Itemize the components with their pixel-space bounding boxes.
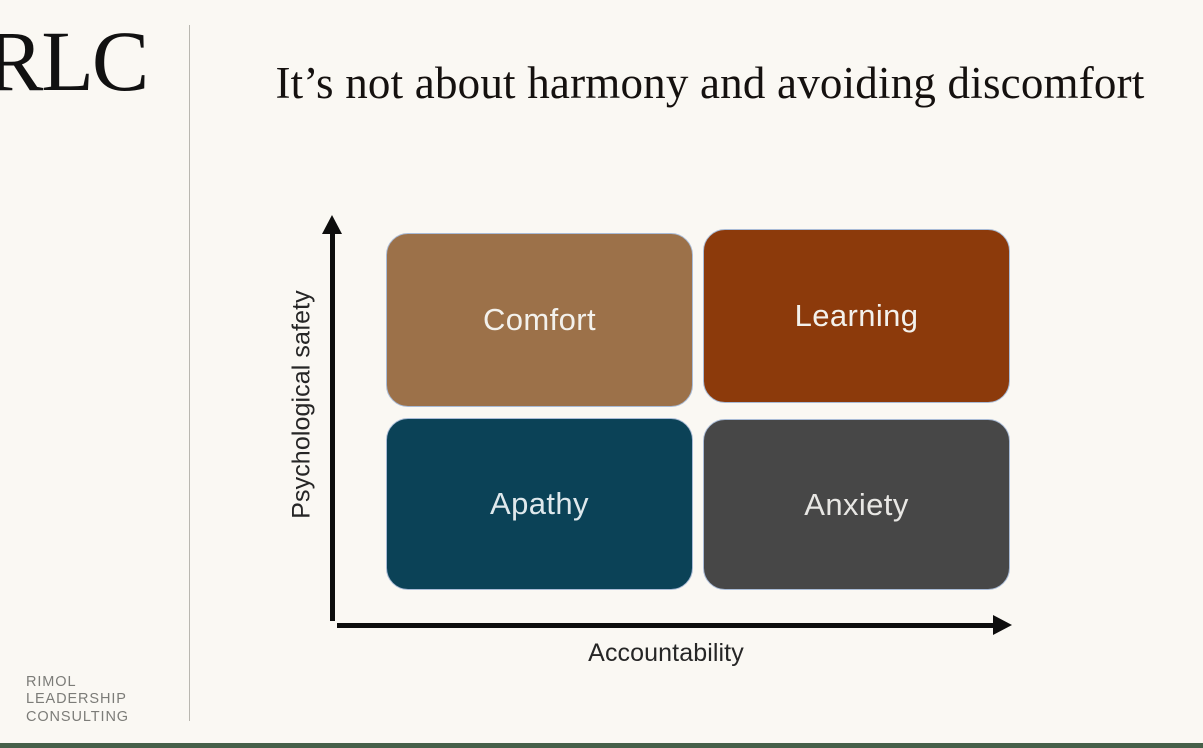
bottom-accent-bar bbox=[0, 743, 1203, 748]
y-axis-line bbox=[330, 231, 335, 621]
brand-footer-line-1: RIMOL bbox=[26, 674, 129, 692]
quadrant-apathy[interactable]: Apathy bbox=[386, 418, 693, 590]
quadrant-anxiety[interactable]: Anxiety bbox=[703, 419, 1010, 590]
x-axis-arrow-icon bbox=[993, 615, 1012, 635]
page-title: It’s not about harmony and avoiding disc… bbox=[240, 54, 1180, 112]
x-axis-label: Accountability bbox=[337, 639, 995, 668]
vertical-divider bbox=[189, 25, 190, 721]
brand-footer-line-2: LEADERSHIP bbox=[26, 691, 129, 709]
brand-footer-line-3: CONSULTING bbox=[26, 709, 129, 727]
x-axis-line bbox=[337, 623, 995, 628]
rlc-logo: RLC bbox=[0, 14, 156, 109]
psychological-safety-matrix: Psychological safety Accountability Comf… bbox=[258, 215, 1038, 695]
brand-footer: RIMOL LEADERSHIP CONSULTING bbox=[26, 674, 129, 727]
quadrant-comfort[interactable]: Comfort bbox=[386, 233, 693, 407]
y-axis-label: Psychological safety bbox=[288, 255, 317, 555]
quadrant-grid: Comfort Learning Apathy Anxiety bbox=[386, 229, 1011, 590]
quadrant-learning[interactable]: Learning bbox=[703, 229, 1010, 403]
slide-canvas: RLC RIMOL LEADERSHIP CONSULTING It’s not… bbox=[0, 0, 1203, 748]
